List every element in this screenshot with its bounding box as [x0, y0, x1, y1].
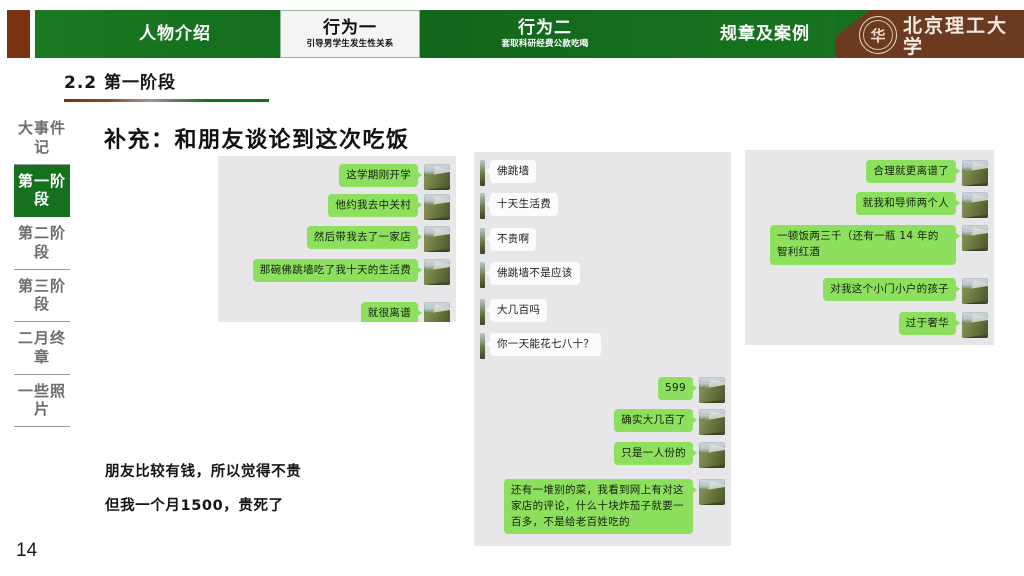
university-logo: 华 北京理工大学 BEIJING INSTITUTE OF TECHNOLOGY	[835, 10, 1024, 58]
nav-tab-label: 规章及案例	[720, 25, 810, 44]
bottom-caption: 朋友比较有钱，所以觉得不贵但我一个月1500，贵死了	[105, 460, 301, 528]
sidebar-nav: 大事件记第一阶段第二阶段第三阶段二月终章一些照片	[14, 112, 70, 427]
avatar[interactable]	[699, 479, 725, 505]
slide-heading: 补充：和朋友谈论到这次吃饭	[104, 122, 410, 154]
chat-message-row: 不贵啊	[480, 228, 725, 254]
sidebar-item-1[interactable]: 第一阶段	[14, 165, 70, 218]
avatar[interactable]	[480, 193, 485, 219]
logo-text-block: 北京理工大学 BEIJING INSTITUTE OF TECHNOLOGY	[903, 16, 1024, 58]
chat-bubble[interactable]: 599	[658, 377, 693, 400]
caption-line-1: 但我一个月1500，贵死了	[105, 494, 301, 515]
avatar[interactable]	[962, 312, 988, 338]
top-navigation-bar: 人物介绍 行为一 引导男学生发生性关系 行为二 套取科研经费公款吃喝 规章及案例…	[0, 0, 1024, 60]
avatar[interactable]	[962, 278, 988, 304]
chat-bubble[interactable]: 十天生活费	[490, 193, 558, 216]
nav-tab-people-intro[interactable]: 人物介绍	[80, 10, 270, 58]
avatar[interactable]	[480, 299, 485, 325]
avatar[interactable]	[962, 192, 988, 218]
sidebar-item-2[interactable]: 第二阶段	[14, 217, 70, 270]
page-number: 14	[16, 540, 37, 562]
chat-bubble[interactable]: 那碗佛跳墙吃了我十天的生活费	[253, 259, 418, 282]
nav-tab-label: 行为一	[323, 19, 377, 38]
avatar[interactable]	[424, 259, 450, 285]
sidebar-item-label: 二月终章	[18, 329, 66, 366]
avatar[interactable]	[424, 226, 450, 252]
chat-message-row: 佛跳墙不是应该	[480, 262, 725, 288]
chat-bubble[interactable]: 这学期刚开学	[339, 164, 418, 187]
chat-bubble[interactable]: 佛跳墙不是应该	[490, 262, 580, 285]
chat-bubble[interactable]: 只是一人份的	[614, 442, 693, 465]
nav-accent-block	[7, 10, 30, 58]
sidebar-item-label: 第一阶段	[18, 172, 66, 209]
chat-bubble[interactable]: 过于奢华	[899, 312, 956, 335]
nav-tab-sublabel: 套取科研经费公款吃喝	[501, 39, 588, 49]
nav-tab-behavior-one[interactable]: 行为一 引导男学生发生性关系	[280, 10, 420, 58]
chat-bubble[interactable]: 然后带我去了一家店	[307, 226, 418, 249]
avatar[interactable]	[699, 442, 725, 468]
avatar[interactable]	[699, 409, 725, 435]
sidebar-item-3[interactable]: 第三阶段	[14, 270, 70, 323]
chat-bubble[interactable]: 他约我去中关村	[328, 194, 418, 217]
chat-panel-1: 这学期刚开学他约我去中关村然后带我去了一家店那碗佛跳墙吃了我十天的生活费就很离谱	[218, 156, 456, 322]
avatar[interactable]	[424, 194, 450, 220]
chat-message-row: 对我这个小门小户的孩子	[751, 278, 988, 304]
chat-bubble[interactable]: 确实大几百了	[614, 409, 693, 432]
sidebar-item-label: 大事件记	[18, 119, 66, 156]
sidebar-item-0[interactable]: 大事件记	[14, 112, 70, 165]
avatar[interactable]	[480, 228, 485, 254]
chat-message-row: 然后带我去了一家店	[224, 226, 450, 252]
avatar[interactable]	[424, 164, 450, 190]
avatar[interactable]	[480, 262, 485, 288]
chat-bubble[interactable]: 一顿饭两三千（还有一瓶 14 年的智利红酒	[770, 225, 956, 265]
chat-message-row: 合理就更离谱了	[751, 160, 988, 186]
chat-bubble[interactable]: 佛跳墙	[490, 160, 536, 183]
avatar[interactable]	[480, 160, 485, 186]
nav-tab-behavior-two[interactable]: 行为二 套取科研经费公款吃喝	[435, 10, 655, 58]
chat-panel-3: 合理就更离谱了就我和导师两个人一顿饭两三千（还有一瓶 14 年的智利红酒对我这个…	[745, 150, 994, 345]
chat-bubble[interactable]: 对我这个小门小户的孩子	[823, 278, 956, 301]
chat-message-row: 那碗佛跳墙吃了我十天的生活费	[224, 259, 450, 285]
avatar[interactable]	[424, 302, 450, 322]
chat-bubble[interactable]: 还有一堆别的菜，我看到网上有对这家店的评论，什么十块炸茄子就要一百多，不是给老百…	[504, 479, 693, 534]
avatar[interactable]	[962, 160, 988, 186]
chat-message-row: 就我和导师两个人	[751, 192, 988, 218]
chat-message-row: 确实大几百了	[480, 409, 725, 435]
avatar[interactable]	[699, 377, 725, 403]
chat-message-row: 大几百吗	[480, 299, 725, 325]
caption-line-0: 朋友比较有钱，所以觉得不贵	[105, 460, 301, 481]
avatar[interactable]	[480, 333, 485, 359]
nav-tab-label: 人物介绍	[139, 25, 211, 44]
sidebar-item-label: 第三阶段	[18, 277, 66, 314]
chat-message-row: 这学期刚开学	[224, 164, 450, 190]
chat-message-row: 只是一人份的	[480, 442, 725, 468]
section-title: 2.2 第一阶段	[64, 68, 269, 102]
avatar[interactable]	[962, 225, 988, 251]
section-title-text: 2.2 第一阶段	[64, 68, 269, 93]
nav-tab-sublabel: 引导男学生发生性关系	[306, 39, 393, 49]
chat-message-row: 你一天能花七八十？	[480, 333, 725, 359]
chat-bubble[interactable]: 就很离谱	[361, 302, 418, 322]
chat-bubble[interactable]: 就我和导师两个人	[856, 192, 956, 215]
chat-message-row: 599	[480, 377, 725, 403]
sidebar-item-label: 第二阶段	[18, 224, 66, 261]
chat-bubble[interactable]: 你一天能花七八十？	[490, 333, 601, 356]
chat-message-row: 还有一堆别的菜，我看到网上有对这家店的评论，什么十块炸茄子就要一百多，不是给老百…	[480, 479, 725, 534]
university-seal-icon: 华	[859, 16, 897, 54]
chat-bubble[interactable]: 合理就更离谱了	[866, 160, 956, 183]
chat-panel-2: 佛跳墙十天生活费不贵啊佛跳墙不是应该大几百吗你一天能花七八十？599确实大几百了…	[474, 152, 731, 546]
chat-message-row: 一顿饭两三千（还有一瓶 14 年的智利红酒	[751, 225, 988, 265]
sidebar-item-label: 一些照片	[18, 382, 66, 419]
chat-message-row: 就很离谱	[224, 302, 450, 322]
chat-message-row: 佛跳墙	[480, 160, 725, 186]
chat-bubble[interactable]: 大几百吗	[490, 299, 547, 322]
sidebar-item-5[interactable]: 一些照片	[14, 375, 70, 428]
chat-message-row: 他约我去中关村	[224, 194, 450, 220]
sidebar-item-4[interactable]: 二月终章	[14, 322, 70, 375]
section-title-underline	[64, 99, 269, 102]
chat-bubble[interactable]: 不贵啊	[490, 228, 536, 251]
logo-name-cn: 北京理工大学	[903, 16, 1024, 58]
chat-message-row: 十天生活费	[480, 193, 725, 219]
nav-tab-label: 行为二	[518, 19, 572, 38]
chat-message-row: 过于奢华	[751, 312, 988, 338]
